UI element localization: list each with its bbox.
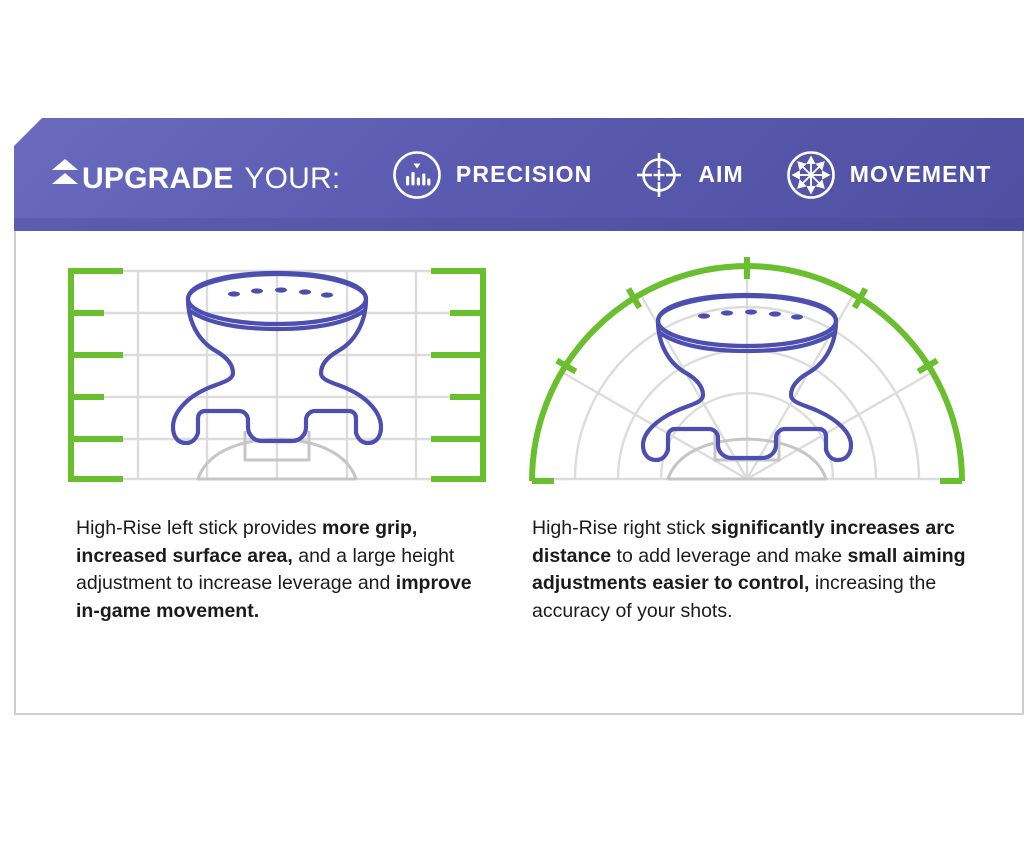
grid-lines xyxy=(68,271,486,479)
left-stick-diagram xyxy=(38,255,516,495)
precision-equalizer-icon xyxy=(391,149,443,201)
banner-title-strong: UPGRADE xyxy=(82,162,233,196)
badge-movement-label: MOVEMENT xyxy=(850,161,992,188)
caption-seg: High-Rise right stick xyxy=(532,517,711,539)
green-axis-right xyxy=(431,268,483,482)
double-up-arrows-icon xyxy=(52,154,78,188)
badge-aim: AIM xyxy=(633,149,743,201)
badge-aim-label: AIM xyxy=(698,161,743,188)
right-stick-diagram xyxy=(508,255,986,495)
badge-precision: PRECISION xyxy=(391,149,592,201)
upgrade-banner: UPGRADE YOUR: PRECISION xyxy=(14,118,1024,231)
movement-arrows-icon xyxy=(785,149,837,201)
banner-bottom-shade xyxy=(14,218,1024,231)
green-axis-left xyxy=(71,268,123,482)
panel-left-stick: High-Rise left stick provides more grip,… xyxy=(38,255,516,626)
aim-crosshair-icon xyxy=(633,149,685,201)
panel-right-stick: High-Rise right stick significantly incr… xyxy=(508,255,986,626)
badge-precision-label: PRECISION xyxy=(456,161,592,188)
right-caption: High-Rise right stick significantly incr… xyxy=(508,515,986,626)
stick-cap-dots xyxy=(228,287,333,297)
banner-badges: PRECISION AIM xyxy=(370,149,1024,201)
banner-title-light: YOUR: xyxy=(244,162,340,196)
caption-seg: High-Rise left stick provides xyxy=(76,517,322,539)
polar-grid-figure xyxy=(508,255,986,495)
content-card: High-Rise left stick provides more grip,… xyxy=(14,231,1024,715)
left-caption: High-Rise left stick provides more grip,… xyxy=(38,515,516,626)
badge-movement: MOVEMENT xyxy=(785,149,992,201)
cartesian-grid-figure xyxy=(38,255,516,495)
caption-seg: to add leverage and make xyxy=(611,545,847,567)
banner-title: UPGRADE YOUR: xyxy=(52,154,340,196)
